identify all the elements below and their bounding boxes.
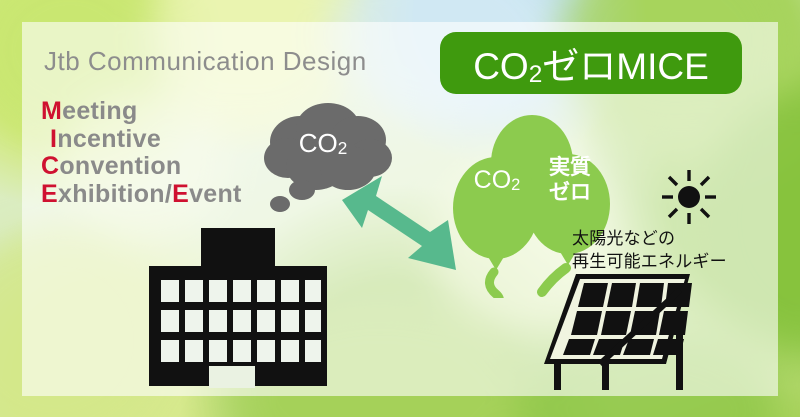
mice-line-incentive: Incentive [41,126,242,154]
mice-initial-c: C [41,152,59,180]
solar-caption: 太陽光などの 再生可能エネルギー [572,228,727,273]
balloon-co2-main: CO [474,166,512,194]
mice-initial-m: M [41,97,62,125]
badge-label: CO2ゼロMICE [473,36,709,90]
badge-label-tail: ゼロMICE [542,46,709,87]
office-building-icon [143,228,333,398]
balloon-co2-label: CO2 [454,166,540,195]
mice-rest-event: vent [189,180,242,208]
balloon-zero-line2: ゼロ [533,181,607,206]
solar-panel-group [540,272,715,394]
balloon-co2-sub: 2 [511,176,520,194]
mice-rest-convention: onvention [59,152,181,180]
mice-rest-exhibition: xhibition/ [58,180,172,208]
cloud-label-sub: 2 [338,138,348,158]
page-title: Jtb Communication Design [44,46,367,77]
solar-caption-line2: 再生可能エネルギー [572,251,727,274]
solar-panel-icon [540,272,715,394]
sun-group [660,168,718,226]
mice-acronym-list: Meeting Incentive Convention Exhibition/… [41,98,242,208]
cloud-label-main: CO [299,128,338,158]
office-building-group [143,228,333,398]
sun-icon [660,168,718,226]
mice-line-meeting: Meeting [41,98,242,126]
mice-initial-e: E [41,180,58,208]
banner-canvas: Jtb Communication Design Meeting Incenti… [0,0,800,417]
balloon-zero-line1: 実質 [533,156,607,181]
mice-rest-meeting: eeting [62,97,137,125]
balloon-zero-label: 実質 ゼロ [533,156,607,206]
mice-line-convention: Convention [41,153,242,181]
mice-line-exhibition-event: Exhibition/Event [41,181,242,209]
co2-zero-mice-badge[interactable]: CO2ゼロMICE [440,32,742,94]
cloud-label: CO2 [258,128,388,159]
solar-caption-line1: 太陽光などの [572,228,727,251]
badge-label-main: CO [473,46,529,87]
mice-rest-incentive: ncentive [57,125,161,153]
badge-label-sub: 2 [529,61,543,88]
mice-initial-e2: E [172,180,189,208]
